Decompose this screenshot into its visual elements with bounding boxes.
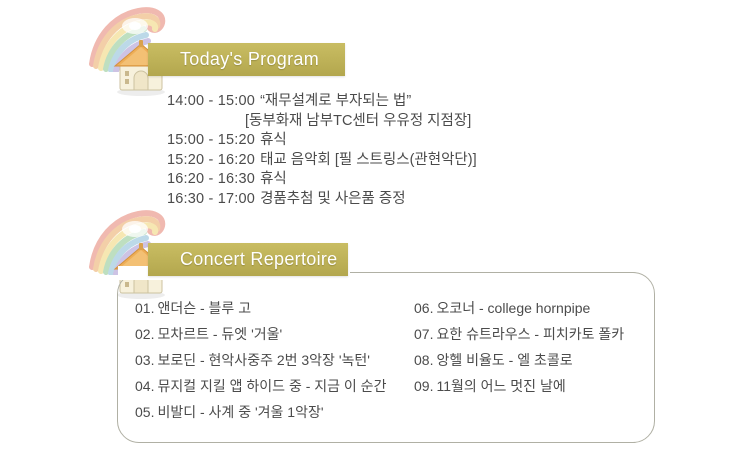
section-banner-program: Today's Program — [148, 43, 345, 76]
repertoire-title: 모차르트 - 듀엣 '거울' — [157, 326, 282, 342]
repertoire-number: 02. — [135, 326, 157, 342]
repertoire-title: 비발디 - 사계 중 '겨울 1악장' — [157, 404, 323, 420]
list-item: 09.11월의 어느 멋진 날에 — [414, 373, 624, 399]
list-item: 08.앙헬 비율도 - 엘 초콜로 — [414, 347, 624, 373]
repertoire-number: 05. — [135, 404, 157, 420]
list-item: 02.모차르트 - 듀엣 '거울' — [135, 321, 386, 347]
list-item: 01.앤더슨 - 블루 고 — [135, 295, 386, 321]
repertoire-panel: 01.앤더슨 - 블루 고 02.모차르트 - 듀엣 '거울' 03.보로딘 -… — [117, 272, 655, 443]
schedule-row: 14:00 - 15:00“재무설계로 부자되는 법” — [167, 92, 477, 112]
repertoire-number: 03. — [135, 352, 157, 368]
program-schedule-list: 14:00 - 15:00“재무설계로 부자되는 법” [동부화재 남부TC센터… — [167, 92, 477, 209]
schedule-description: 태교 음악회 [필 스트링스(관현악단)] — [255, 152, 477, 168]
section-title-repertoire: Concert Repertoire — [148, 249, 337, 270]
repertoire-number: 01. — [135, 300, 157, 316]
schedule-time: 14:00 - 15:00 — [167, 93, 255, 109]
repertoire-number: 04. — [135, 378, 157, 394]
list-item: 05.비발디 - 사계 중 '겨울 1악장' — [135, 399, 386, 425]
list-item: 06.오코너 - college hornpipe — [414, 295, 624, 321]
schedule-time: 15:20 - 16:20 — [167, 152, 255, 168]
schedule-row: 16:20 - 16:30휴식 — [167, 170, 477, 190]
repertoire-number: 06. — [414, 300, 436, 316]
repertoire-title: 요한 슈트라우스 - 피치카토 폴카 — [436, 326, 624, 342]
schedule-time: 15:00 - 15:20 — [167, 132, 255, 148]
repertoire-title: 앙헬 비율도 - 엘 초콜로 — [436, 352, 572, 368]
repertoire-column-left: 01.앤더슨 - 블루 고 02.모차르트 - 듀엣 '거울' 03.보로딘 -… — [135, 295, 386, 425]
schedule-time: 16:20 - 16:30 — [167, 171, 255, 187]
section-banner-repertoire: Concert Repertoire — [148, 243, 348, 276]
repertoire-number: 07. — [414, 326, 436, 342]
schedule-description: 경품추첨 및 사은품 증정 — [255, 191, 406, 207]
list-item: 03.보로딘 - 현악사중주 2번 3악장 '녹턴' — [135, 347, 386, 373]
repertoire-title: 오코너 - college hornpipe — [436, 300, 590, 316]
schedule-row: 15:20 - 16:20태교 음악회 [필 스트링스(관현악단)] — [167, 151, 477, 171]
repertoire-title: 앤더슨 - 블루 고 — [157, 300, 251, 316]
schedule-subtitle: [동부화재 남부TC센터 우유정 지점장] — [167, 112, 477, 132]
schedule-description: “재무설계로 부자되는 법” — [255, 93, 411, 109]
schedule-description: 휴식 — [255, 171, 287, 187]
schedule-description: 휴식 — [255, 132, 287, 148]
repertoire-column-right: 06.오코너 - college hornpipe 07.요한 슈트라우스 - … — [414, 295, 624, 399]
section-title-program: Today's Program — [148, 49, 319, 70]
repertoire-title: 뮤지컬 지킬 앱 하이드 중 - 지금 이 순간 — [157, 378, 386, 394]
repertoire-title: 보로딘 - 현악사중주 2번 3악장 '녹턴' — [157, 352, 369, 368]
repertoire-number: 09. — [414, 378, 436, 394]
schedule-row: 15:00 - 15:20휴식 — [167, 131, 477, 151]
list-item: 04.뮤지컬 지킬 앱 하이드 중 - 지금 이 순간 — [135, 373, 386, 399]
repertoire-number: 08. — [414, 352, 436, 368]
list-item: 07.요한 슈트라우스 - 피치카토 폴카 — [414, 321, 624, 347]
repertoire-title: 11월의 어느 멋진 날에 — [436, 378, 565, 394]
schedule-row: 16:30 - 17:00경품추첨 및 사은품 증정 — [167, 190, 477, 210]
